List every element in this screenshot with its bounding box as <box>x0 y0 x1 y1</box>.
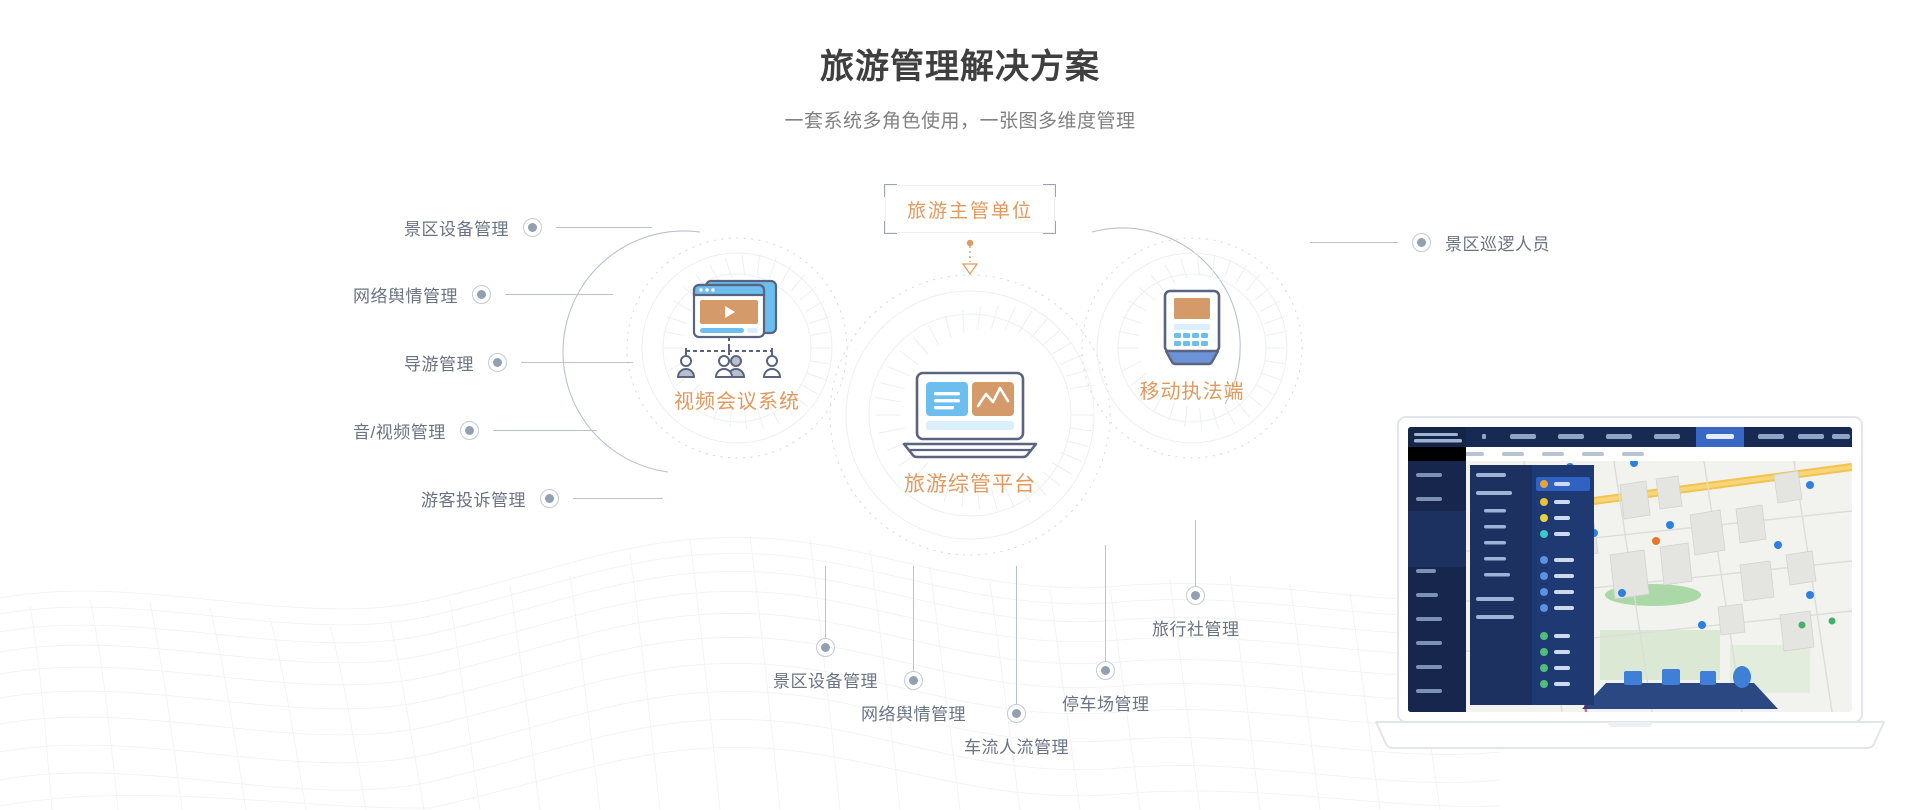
node-label: 景区设备管理 <box>404 215 509 240</box>
node-lead-line <box>825 566 826 638</box>
hub-caption-mobile-enforcement: 移动执法端 <box>1132 375 1252 404</box>
node-dot-icon <box>460 421 479 440</box>
node-label: 音/视频管理 <box>353 418 446 443</box>
infographic-canvas: 旅游管理解决方案 一套系统多角色使用，一张图多维度管理 <box>0 0 1920 810</box>
node-dot-icon <box>523 218 542 237</box>
node-lead-line <box>573 498 663 499</box>
node-dot-icon <box>1007 704 1026 723</box>
node-label: 车流人流管理 <box>964 733 1069 758</box>
laptop-product-mockup <box>1370 415 1890 775</box>
authority-connector-arrow <box>963 240 977 274</box>
node-left-1[interactable]: 景区设备管理 <box>404 215 652 240</box>
handheld-device-icon <box>1132 285 1252 385</box>
node-lead-line <box>505 294 613 295</box>
node-right-1[interactable]: 景区巡逻人员 <box>1310 230 1550 255</box>
node-label: 游客投诉管理 <box>421 486 526 511</box>
node-label: 网络舆情管理 <box>353 282 458 307</box>
node-bottom-5[interactable]: 旅行社管理 <box>1152 520 1240 640</box>
node-dot-icon <box>1096 661 1115 680</box>
hub-mobile-enforcement: 移动执法端 <box>1132 285 1252 425</box>
laptop-dashboard-icon <box>890 368 1050 464</box>
hub-caption-tourism-platform: 旅游综管平台 <box>890 468 1050 498</box>
node-left-3[interactable]: 导游管理 <box>404 350 633 375</box>
node-lead-line <box>913 566 914 671</box>
node-left-4[interactable]: 音/视频管理 <box>353 418 597 443</box>
node-lead-line <box>1016 566 1017 704</box>
node-label: 停车场管理 <box>1062 690 1150 715</box>
authority-label: 旅游主管单位 <box>885 185 1055 233</box>
node-bottom-2[interactable]: 网络舆情管理 <box>861 566 966 725</box>
node-dot-icon <box>904 671 923 690</box>
node-left-5[interactable]: 游客投诉管理 <box>421 486 663 511</box>
node-label: 旅行社管理 <box>1152 615 1240 640</box>
video-conference-icon <box>662 273 812 383</box>
node-dot-icon <box>816 638 835 657</box>
node-dot-icon <box>1412 233 1431 252</box>
node-label: 导游管理 <box>404 350 474 375</box>
hub-caption-video-conference: 视频会议系统 <box>662 385 812 414</box>
node-bottom-3[interactable]: 车流人流管理 <box>964 566 1069 758</box>
node-dot-icon <box>1186 586 1205 605</box>
authority-box: 旅游主管单位 <box>885 185 1055 233</box>
node-lead-line <box>1195 520 1196 586</box>
node-lead-line <box>521 362 633 363</box>
node-lead-line <box>1310 242 1398 243</box>
node-dot-icon <box>540 489 559 508</box>
node-dot-icon <box>472 285 491 304</box>
node-dot-icon <box>488 353 507 372</box>
node-lead-line <box>556 227 652 228</box>
node-label: 景区巡逻人员 <box>1445 230 1550 255</box>
node-bottom-4[interactable]: 停车场管理 <box>1062 545 1150 715</box>
node-left-2[interactable]: 网络舆情管理 <box>353 282 613 307</box>
hub-tourism-platform: 旅游综管平台 <box>890 368 1050 518</box>
node-lead-line <box>493 430 597 431</box>
hub-video-conference: 视频会议系统 <box>662 273 812 423</box>
node-lead-line <box>1105 545 1106 661</box>
node-label: 网络舆情管理 <box>861 700 966 725</box>
